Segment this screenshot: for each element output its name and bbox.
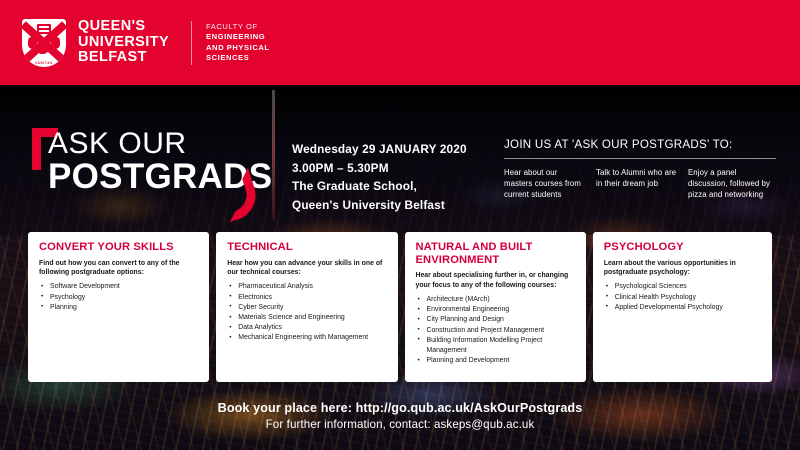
brand-header-bar: VANITAS QUEEN'S UNIVERSITY BELFAST FACUL… — [0, 0, 800, 85]
list-item: Materials Science and Engineering — [227, 313, 386, 323]
list-item: Construction and Project Management — [416, 326, 575, 336]
card-title: NATURAL AND BUILT ENVIRONMENT — [416, 241, 575, 266]
card-title: TECHNICAL — [227, 241, 386, 254]
card-course-list: Architecture (MArch) Environmental Engin… — [416, 295, 575, 366]
event-venue-line-2: Queen's University Belfast — [292, 196, 467, 215]
page-title-line-1: ASK OUR — [48, 128, 272, 160]
card-intro: Find out how you can convert to any of t… — [39, 259, 198, 278]
crest-seahorse-icon — [39, 41, 49, 54]
list-item: Building Information Modelling Project M… — [416, 336, 575, 356]
poster-canvas: VANITAS QUEEN'S UNIVERSITY BELFAST FACUL… — [0, 0, 800, 450]
join-us-benefit-3: Enjoy a panel discussion, followed by pi… — [688, 167, 780, 201]
list-item: Clinical Health Psychology — [604, 293, 761, 303]
faculty-line-3: SCIENCES — [206, 53, 270, 63]
faculty-line-1: ENGINEERING — [206, 32, 270, 42]
university-name-line-1: QUEEN'S — [78, 19, 169, 35]
list-item: Electronics — [227, 293, 386, 303]
list-item: Mechanical Engineering with Management — [227, 333, 386, 343]
event-time: 3.00PM – 5.30PM — [292, 159, 467, 178]
join-us-benefit-2: Talk to Alumni who are in their dream jo… — [596, 167, 688, 201]
list-item: Applied Developmental Psychology — [604, 303, 761, 313]
card-course-list: Pharmaceutical Analysis Electronics Cybe… — [227, 282, 386, 343]
list-item: Cyber Security — [227, 303, 386, 313]
tower-light-decoration — [272, 90, 275, 220]
list-item: Software Development — [39, 282, 198, 292]
university-wordmark: QUEEN'S UNIVERSITY BELFAST — [78, 19, 169, 66]
join-us-benefit-1: Hear about our masters courses from curr… — [504, 167, 596, 201]
university-name-line-2: UNIVERSITY — [78, 35, 169, 51]
list-item: City Planning and Design — [416, 315, 575, 325]
card-psychology[interactable]: PSYCHOLOGY Learn about the various oppor… — [593, 232, 772, 382]
queens-university-crest-icon: VANITAS — [22, 19, 66, 67]
join-us-divider — [504, 158, 776, 159]
card-intro: Hear how you can advance your skills in … — [227, 259, 386, 278]
list-item: Pharmaceutical Analysis — [227, 282, 386, 292]
event-date: Wednesday 29 JANUARY 2020 — [292, 140, 467, 159]
join-us-heading: JOIN US AT 'ASK OUR POSTGRADS' TO: — [504, 138, 784, 151]
crest-harp-left-icon — [28, 37, 37, 49]
faculty-name-block: FACULTY OF ENGINEERING AND PHYSICAL SCIE… — [206, 22, 270, 64]
footer-contact-block: Book your place here: http://go.qub.ac.u… — [0, 400, 800, 433]
list-item: Architecture (MArch) — [416, 295, 575, 305]
crest-harp-right-icon — [51, 37, 60, 49]
join-us-section: JOIN US AT 'ASK OUR POSTGRADS' TO: Hear … — [504, 138, 784, 201]
event-details-block: Wednesday 29 JANUARY 2020 3.00PM – 5.30P… — [292, 140, 467, 214]
crest-motto: VANITAS — [22, 61, 66, 65]
card-course-list: Psychological Sciences Clinical Health P… — [604, 282, 761, 313]
card-intro: Hear about specialising further in, or c… — [416, 271, 575, 290]
course-category-cards: CONVERT YOUR SKILLS Find out how you can… — [28, 232, 772, 382]
university-name-line-3: BELFAST — [78, 50, 169, 66]
list-item: Planning and Development — [416, 356, 575, 366]
join-us-columns: Hear about our masters courses from curr… — [504, 167, 784, 201]
card-title: PSYCHOLOGY — [604, 241, 761, 254]
list-item: Data Analytics — [227, 323, 386, 333]
event-venue-line-1: The Graduate School, — [292, 177, 467, 196]
booking-link[interactable]: Book your place here: http://go.qub.ac.u… — [0, 400, 800, 417]
card-convert-your-skills[interactable]: CONVERT YOUR SKILLS Find out how you can… — [28, 232, 209, 382]
crest-book-lines — [39, 26, 49, 28]
card-course-list: Software Development Psychology Planning — [39, 282, 198, 313]
list-item: Psychology — [39, 293, 198, 303]
card-title: CONVERT YOUR SKILLS — [39, 241, 198, 254]
card-technical[interactable]: TECHNICAL Hear how you can advance your … — [216, 232, 397, 382]
card-natural-and-built-environment[interactable]: NATURAL AND BUILT ENVIRONMENT Hear about… — [405, 232, 586, 382]
card-intro: Learn about the various opportunities in… — [604, 259, 761, 278]
list-item: Environmental Engineering — [416, 305, 575, 315]
contact-email-line[interactable]: For further information, contact: askeps… — [0, 417, 800, 433]
faculty-line-2: AND PHYSICAL — [206, 43, 270, 53]
list-item: Psychological Sciences — [604, 282, 761, 292]
header-divider — [191, 21, 192, 65]
list-item: Planning — [39, 303, 198, 313]
faculty-lead-label: FACULTY OF — [206, 22, 270, 32]
